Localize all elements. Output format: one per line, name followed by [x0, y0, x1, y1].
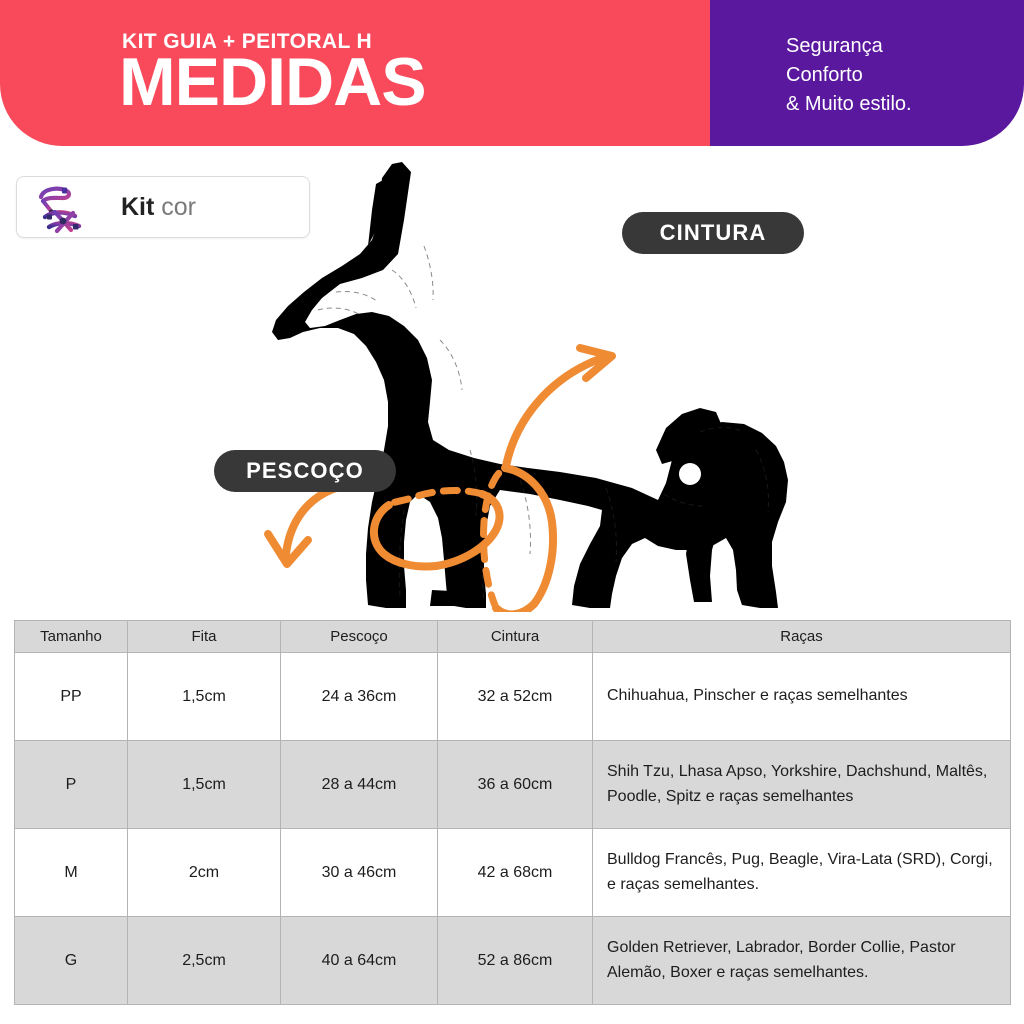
header-tagline: Segurança Conforto & Muito estilo. — [786, 32, 912, 119]
tagline-line-3: & Muito estilo. — [786, 90, 912, 119]
size-table: Tamanho Fita Pescoço Cintura Raças PP 1,… — [14, 620, 1011, 1005]
cell-racas: Chihuahua, Pinscher e raças semelhantes — [593, 653, 1011, 741]
cell-fita: 2,5cm — [128, 917, 281, 1005]
cintura-arrow — [506, 348, 612, 466]
cell-tamanho: M — [15, 829, 128, 917]
page-title: MEDIDAS — [119, 48, 426, 116]
col-header-tamanho: Tamanho — [15, 621, 128, 653]
pescoco-arrow — [268, 484, 382, 564]
cell-tamanho: P — [15, 741, 128, 829]
cell-pescoco: 40 a 64cm — [281, 917, 438, 1005]
table-row: G 2,5cm 40 a 64cm 52 a 86cm Golden Retri… — [15, 917, 1011, 1005]
table-header-row: Tamanho Fita Pescoço Cintura Raças — [15, 621, 1011, 653]
col-header-pescoco: Pescoço — [281, 621, 438, 653]
callout-cintura: CINTURA — [622, 212, 804, 254]
size-table-wrapper: Tamanho Fita Pescoço Cintura Raças PP 1,… — [14, 620, 1010, 1005]
callout-pescoco-label: PESCOÇO — [246, 458, 364, 484]
tagline-line-2: Conforto — [786, 61, 912, 90]
callout-cintura-label: CINTURA — [660, 220, 767, 246]
cell-cintura: 32 a 52cm — [438, 653, 593, 741]
cell-fita: 1,5cm — [128, 741, 281, 829]
cell-fita: 2cm — [128, 829, 281, 917]
cell-cintura: 36 a 60cm — [438, 741, 593, 829]
page-header: KIT GUIA + PEITORAL H MEDIDAS Segurança … — [0, 0, 1024, 146]
col-header-fita: Fita — [128, 621, 281, 653]
dog-measurement-illustration — [0, 150, 1024, 612]
table-row: PP 1,5cm 24 a 36cm 32 a 52cm Chihuahua, … — [15, 653, 1011, 741]
cell-tamanho: G — [15, 917, 128, 1005]
cell-cintura: 52 a 86cm — [438, 917, 593, 1005]
cell-racas: Bulldog Francês, Pug, Beagle, Vira-Lata … — [593, 829, 1011, 917]
cell-fita: 1,5cm — [128, 653, 281, 741]
cell-pescoco: 30 a 46cm — [281, 829, 438, 917]
tagline-line-1: Segurança — [786, 32, 912, 61]
cell-cintura: 42 a 68cm — [438, 829, 593, 917]
col-header-racas: Raças — [593, 621, 1011, 653]
cell-pescoco: 24 a 36cm — [281, 653, 438, 741]
col-header-cintura: Cintura — [438, 621, 593, 653]
cell-tamanho: PP — [15, 653, 128, 741]
callout-pescoco: PESCOÇO — [214, 450, 396, 492]
cell-racas: Shih Tzu, Lhasa Apso, Yorkshire, Dachshu… — [593, 741, 1011, 829]
table-row: M 2cm 30 a 46cm 42 a 68cm Bulldog Francê… — [15, 829, 1011, 917]
table-row: P 1,5cm 28 a 44cm 36 a 60cm Shih Tzu, Lh… — [15, 741, 1011, 829]
cell-pescoco: 28 a 44cm — [281, 741, 438, 829]
cell-racas: Golden Retriever, Labrador, Border Colli… — [593, 917, 1011, 1005]
